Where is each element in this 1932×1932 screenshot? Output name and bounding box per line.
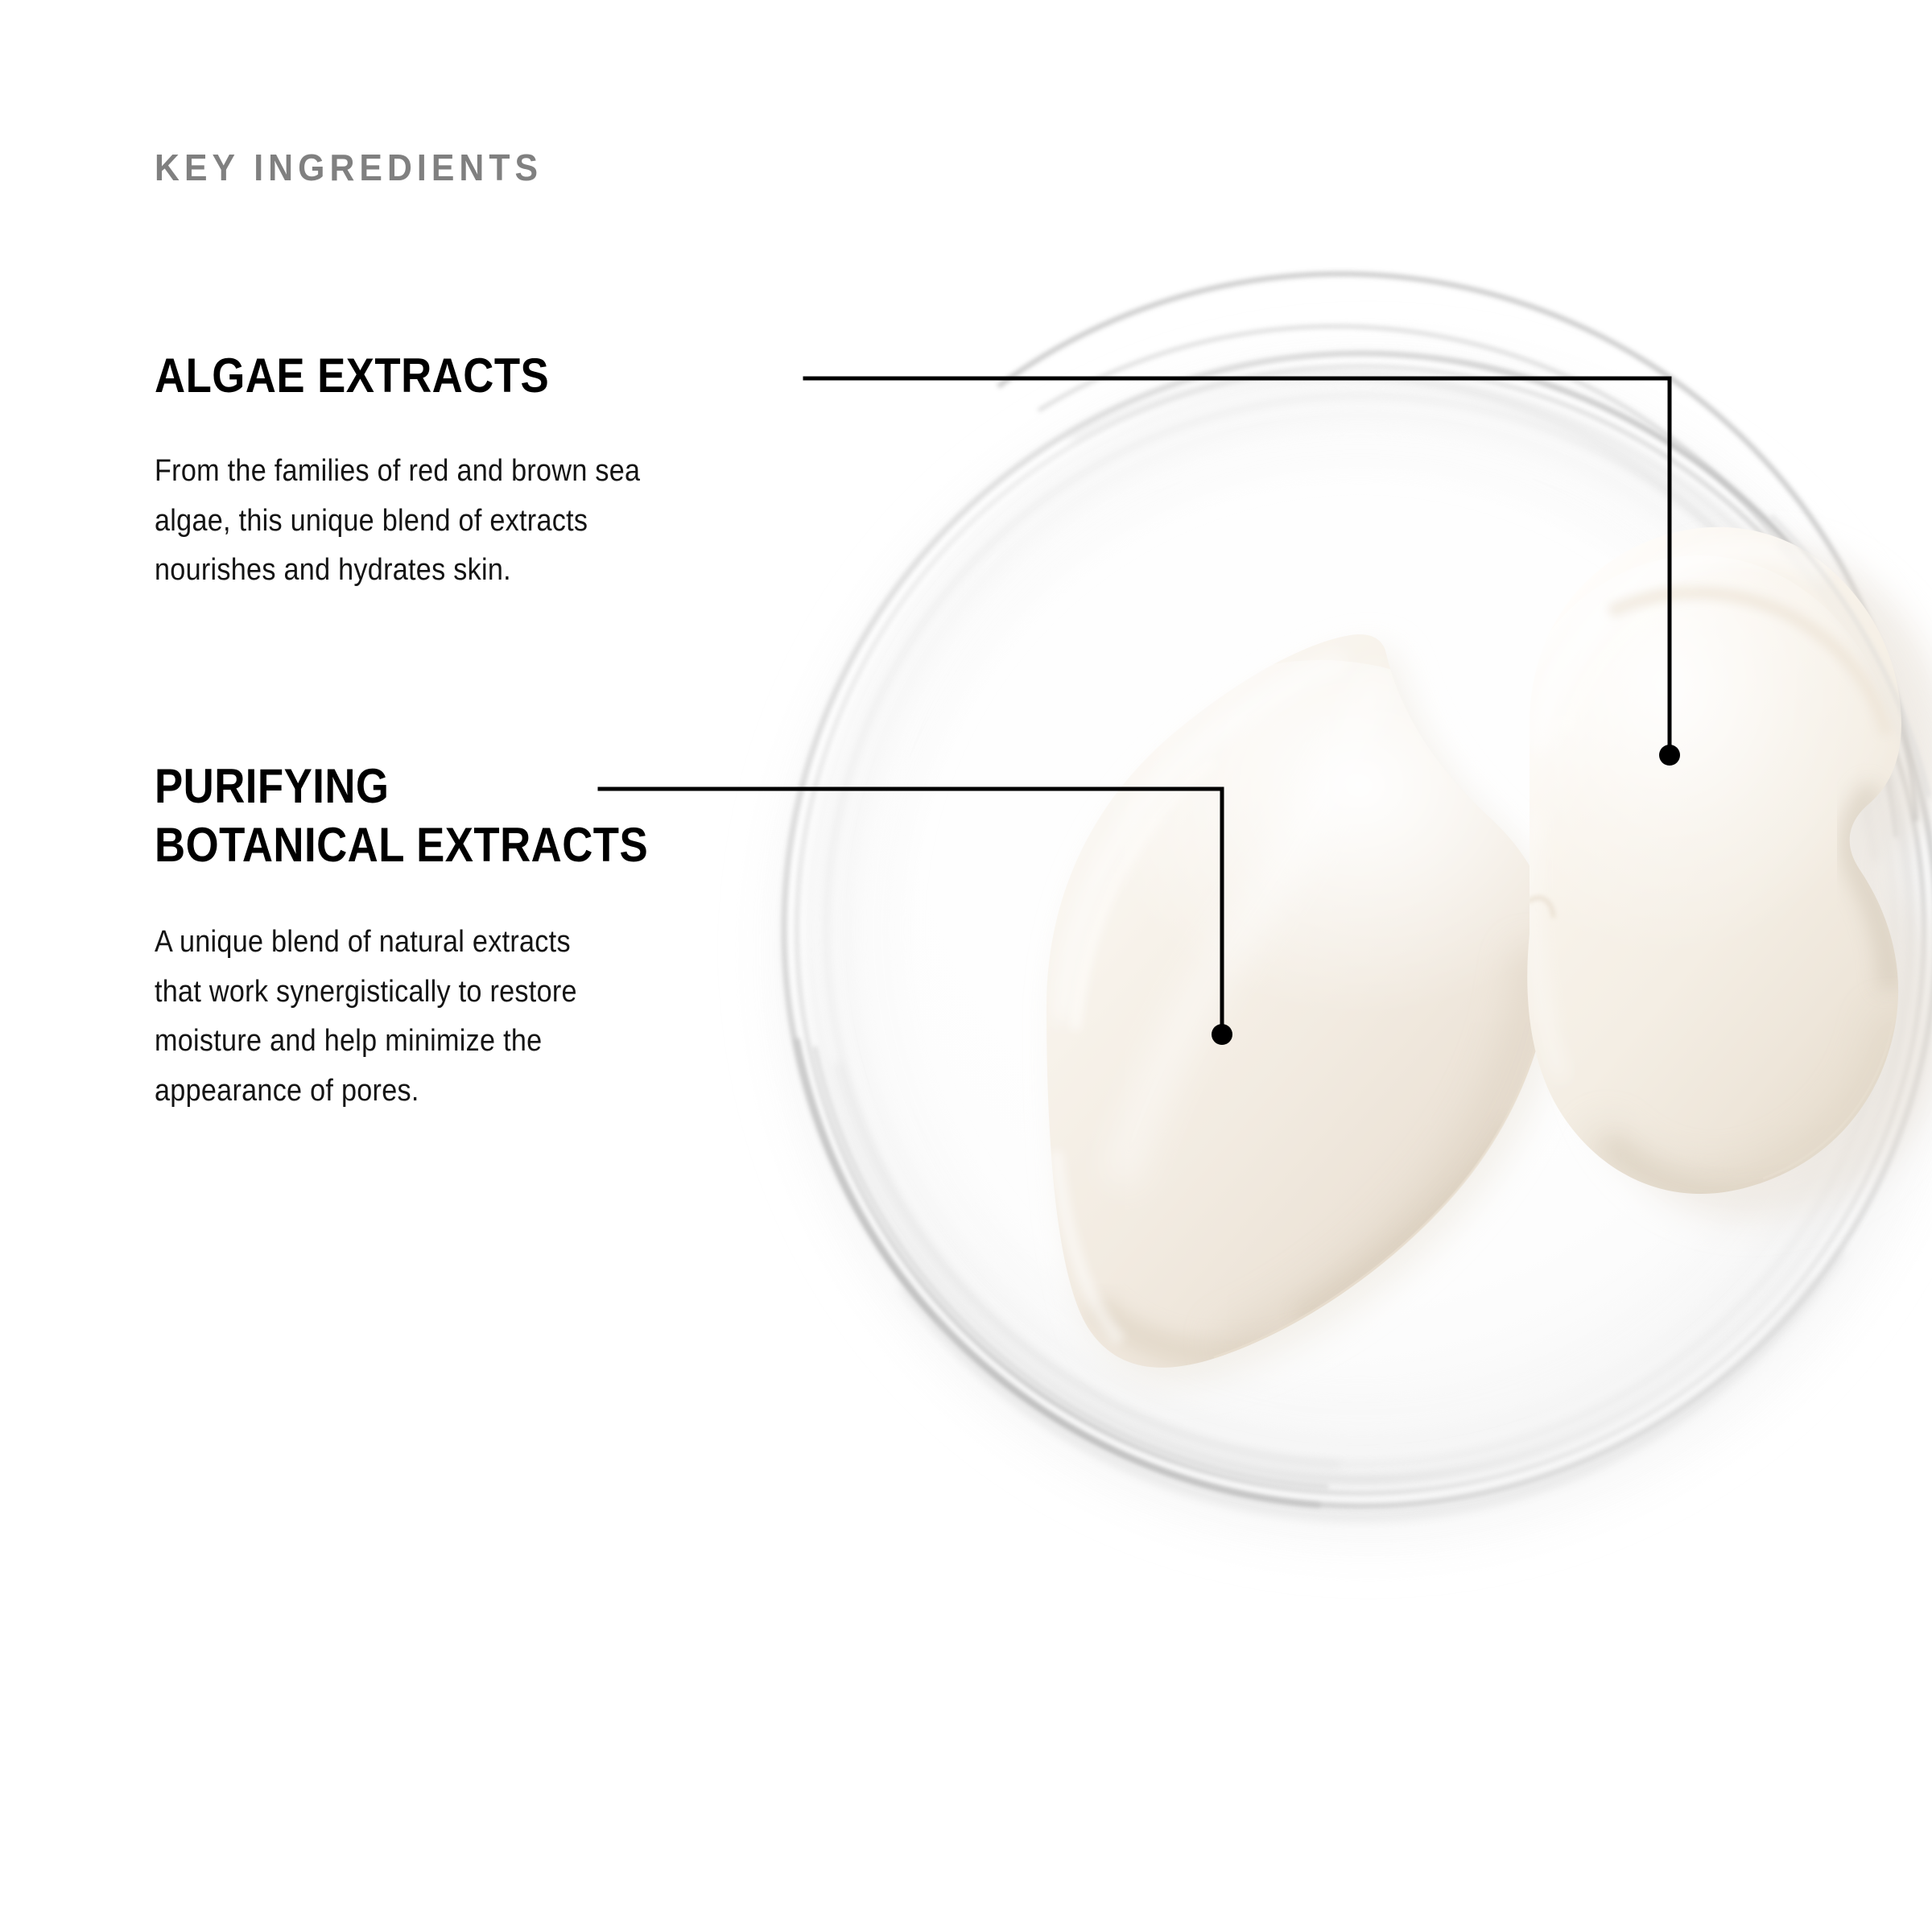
ingredients-text-column: KEY INGREDIENTS ALGAE EXTRACTS From the … bbox=[0, 0, 853, 1932]
ingredient-block-algae-extracts: ALGAE EXTRACTS From the families of red … bbox=[155, 346, 815, 596]
ingredient-description-algae-extracts: From the families of red and brown sea a… bbox=[155, 447, 749, 596]
ingredient-title-botanical-extracts: PURIFYING BOTANICAL EXTRACTS bbox=[155, 757, 736, 874]
algae-extracts-leader-dot bbox=[1659, 745, 1680, 766]
cream-swatch-lower-left bbox=[1046, 634, 1565, 1382]
cream-swatch-upper-right bbox=[1497, 527, 1932, 1220]
ingredient-description-botanical-extracts: A unique blend of natural extracts that … bbox=[155, 918, 749, 1116]
algae-extracts-leader bbox=[805, 378, 1680, 766]
page-title: KEY INGREDIENTS bbox=[155, 149, 543, 186]
botanical-extracts-leader-dot bbox=[1212, 1024, 1232, 1045]
ingredient-block-botanical-extracts: PURIFYING BOTANICAL EXTRACTS A unique bl… bbox=[155, 757, 815, 1117]
key-ingredients-panel: KEY INGREDIENTS ALGAE EXTRACTS From the … bbox=[0, 0, 1932, 1932]
ingredient-title-algae-extracts: ALGAE EXTRACTS bbox=[155, 346, 736, 405]
